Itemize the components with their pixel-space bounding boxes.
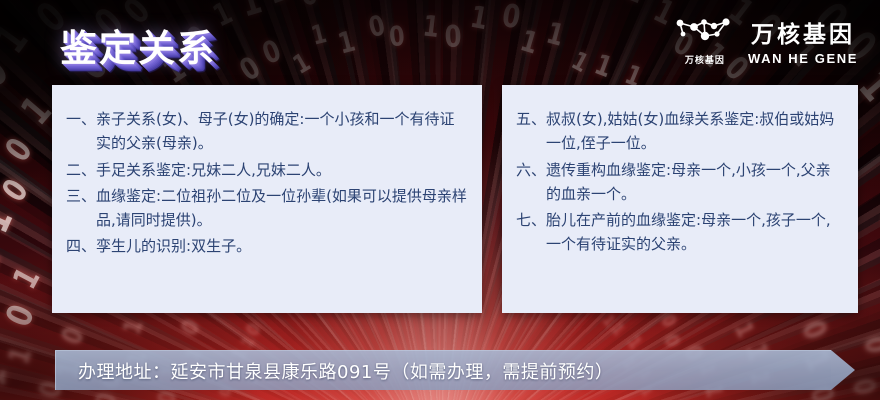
logo-name-cn: 万核基因	[751, 15, 855, 49]
list-item-text: 亲子关系(女)、母子(女)的确定:一个小孩和一个有待证实的父亲(母亲)。	[96, 107, 468, 156]
address-banner-body: 办理地址：延安市甘泉县康乐路091号（如需办理，需提前预约）	[55, 350, 831, 390]
address-banner: 办理地址：延安市甘泉县康乐路091号（如需办理，需提前预约）	[55, 350, 855, 390]
list-item-number: 四、	[66, 234, 96, 258]
logo-mark-subtitle: 万核基因	[685, 53, 725, 66]
logo-wordmark: 万核基因 WAN HE GENE	[748, 15, 858, 66]
list-item-text: 叔叔(女),姑姑(女)血绿关系鉴定:叔伯或姑妈一位,侄子一位。	[546, 107, 844, 156]
logo-mark: 万核基因	[674, 14, 736, 66]
list-item: 三、血缘鉴定:二位祖孙二位及一位孙辈(如果可以提供母亲样品,请同时提供)。	[66, 184, 468, 233]
list-item-text: 血缘鉴定:二位祖孙二位及一位孙辈(如果可以提供母亲样品,请同时提供)。	[96, 184, 468, 233]
list-item: 四、孪生儿的识别:双生子。	[66, 234, 468, 258]
brand-logo: 万核基因 万核基因 WAN HE GENE	[674, 14, 858, 66]
list-item-text: 遗传重构血缘鉴定:母亲一个,小孩一个,父亲的血亲一个。	[546, 158, 844, 207]
banner-arrow-icon	[831, 350, 855, 390]
list-item: 一、亲子关系(女)、母子(女)的确定:一个小孩和一个有待证实的父亲(母亲)。	[66, 107, 468, 156]
slide-root: 0010011011000111111011000110110000100001…	[0, 0, 880, 400]
address-banner-text: 办理地址：延安市甘泉县康乐路091号（如需办理，需提前预约）	[78, 358, 613, 384]
list-item-text: 胎儿在产前的血缘鉴定:母亲一个,孩子一个,一个有待证实的父亲。	[546, 208, 844, 257]
info-panel-left: 一、亲子关系(女)、母子(女)的确定:一个小孩和一个有待证实的父亲(母亲)。二、…	[52, 85, 482, 313]
list-item-number: 五、	[516, 107, 546, 131]
list-item-number: 一、	[66, 107, 96, 131]
list-item: 五、叔叔(女),姑姑(女)血绿关系鉴定:叔伯或姑妈一位,侄子一位。	[516, 107, 844, 156]
list-item: 七、胎儿在产前的血缘鉴定:母亲一个,孩子一个,一个有待证实的父亲。	[516, 208, 844, 257]
molecule-nodes-icon	[674, 14, 736, 51]
logo-name-en: WAN HE GENE	[748, 51, 858, 66]
list-item-text: 手足关系鉴定:兄妹二人,兄妹二人。	[96, 158, 468, 182]
info-panel-right: 五、叔叔(女),姑姑(女)血绿关系鉴定:叔伯或姑妈一位,侄子一位。六、遗传重构血…	[502, 85, 858, 313]
list-item-number: 六、	[516, 158, 546, 182]
list-item-number: 二、	[66, 158, 96, 182]
item-list-left: 一、亲子关系(女)、母子(女)的确定:一个小孩和一个有待证实的父亲(母亲)。二、…	[52, 85, 482, 313]
list-item: 六、遗传重构血缘鉴定:母亲一个,小孩一个,父亲的血亲一个。	[516, 158, 844, 207]
list-item-number: 三、	[66, 184, 96, 208]
page-title: 鉴定关系	[60, 18, 216, 72]
list-item: 二、手足关系鉴定:兄妹二人,兄妹二人。	[66, 158, 468, 182]
item-list-right: 五、叔叔(女),姑姑(女)血绿关系鉴定:叔伯或姑妈一位,侄子一位。六、遗传重构血…	[502, 85, 858, 313]
list-item-number: 七、	[516, 208, 546, 232]
list-item-text: 孪生儿的识别:双生子。	[96, 234, 468, 258]
